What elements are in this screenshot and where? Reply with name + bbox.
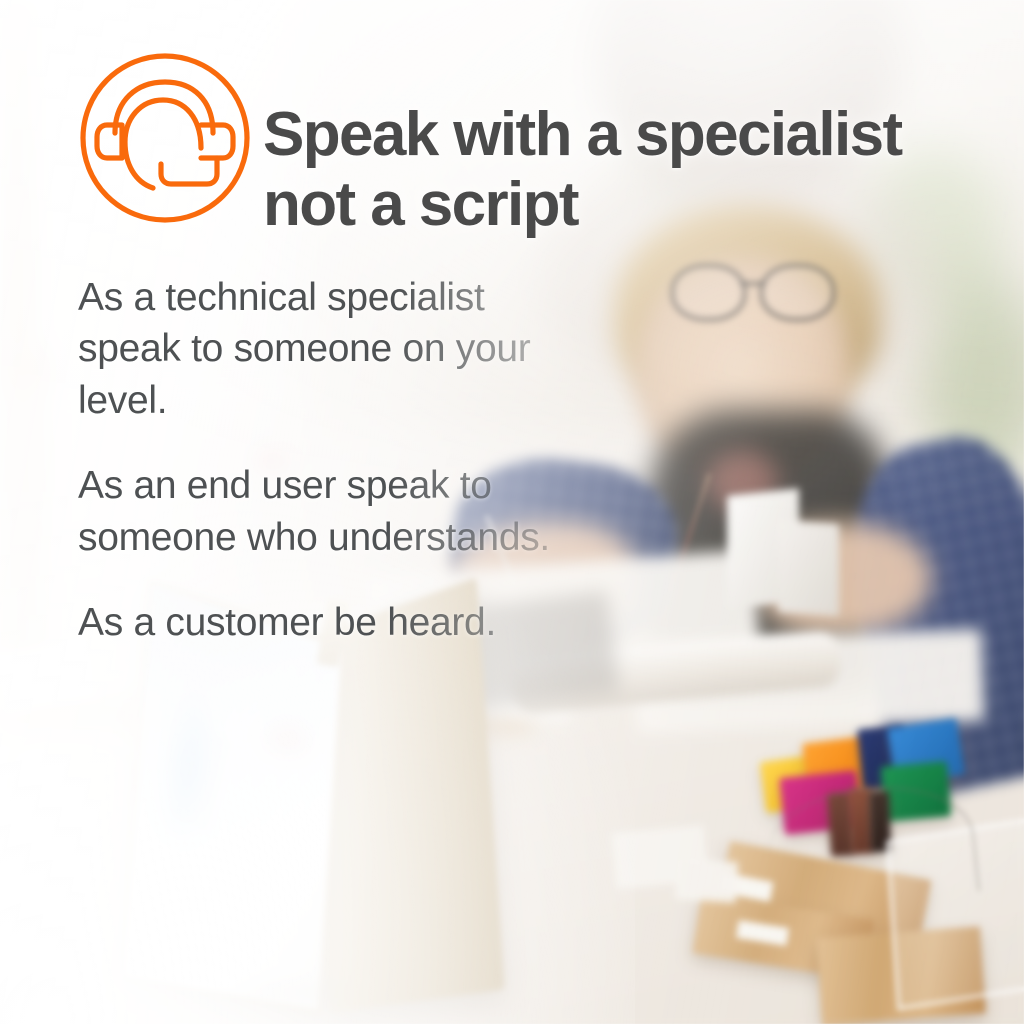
- content-layer: Speak with a specialist not a script As …: [0, 0, 1024, 1024]
- headset-support-icon: [77, 50, 253, 226]
- page-title: Speak with a specialist not a script: [263, 100, 963, 240]
- poster-canvas: Speak with a specialist not a script As …: [0, 0, 1024, 1024]
- body-paragraph-3: As a customer be heard.: [78, 597, 578, 648]
- headline-line-2: not a script: [263, 170, 963, 240]
- icon-ear-cup-right: [201, 125, 233, 158]
- body-copy: As a technical specialist speak to someo…: [78, 272, 578, 649]
- icon-mic-boom: [161, 158, 217, 184]
- headline-line-1: Speak with a specialist: [263, 100, 963, 170]
- body-paragraph-2: As an end user speak to someone who unde…: [78, 460, 578, 563]
- body-paragraph-1: As a technical specialist speak to someo…: [78, 272, 578, 426]
- icon-ear-cup-left: [97, 125, 122, 158]
